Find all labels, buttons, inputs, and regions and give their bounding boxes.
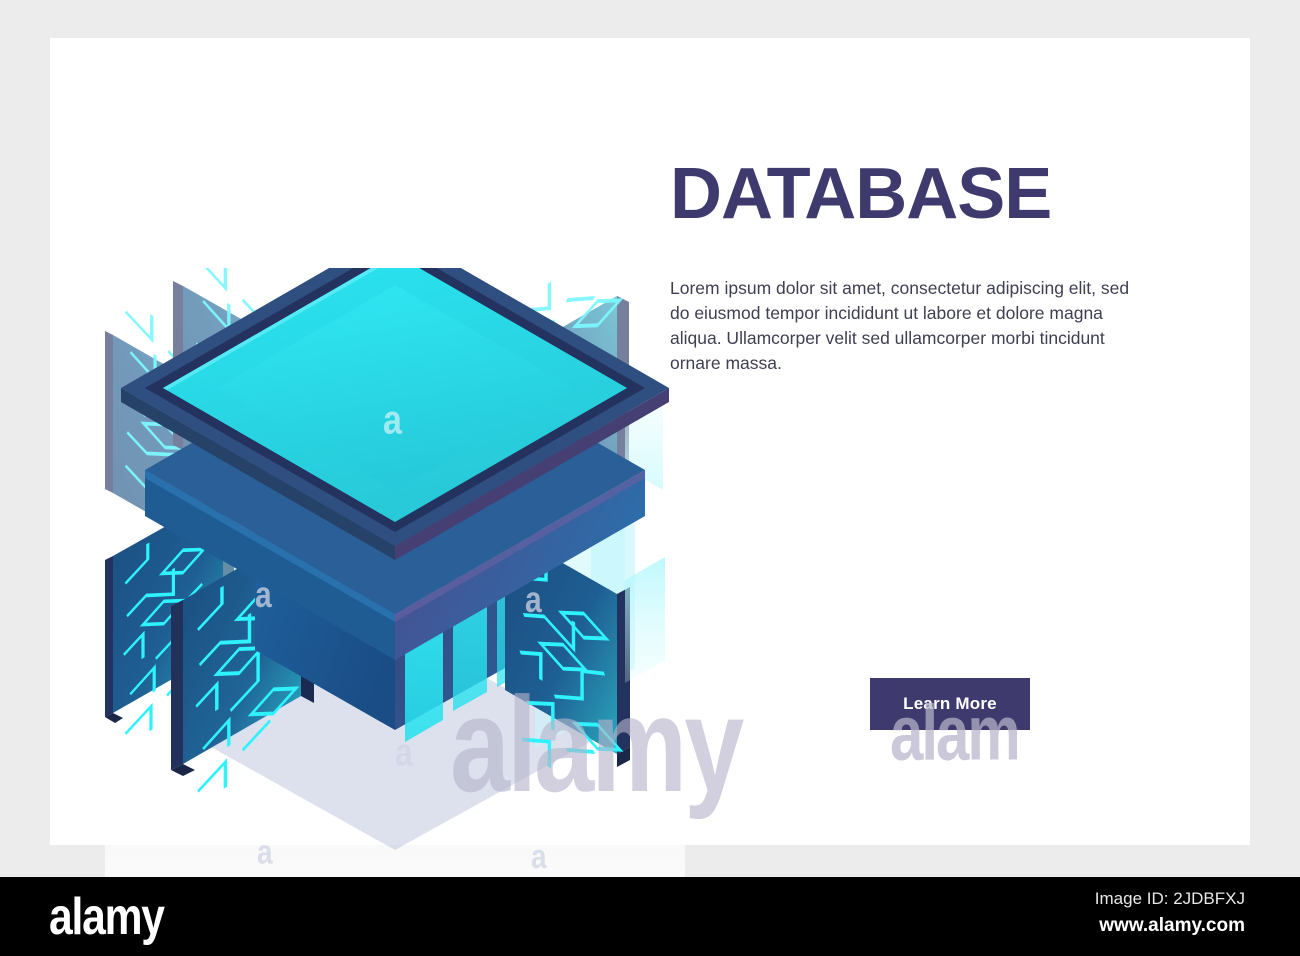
learn-more-button[interactable]: Learn More xyxy=(870,678,1030,730)
hero-copy: DATABASE Lorem ipsum dolor sit amet, con… xyxy=(670,158,1190,375)
svg-text:a: a xyxy=(257,833,273,871)
screenshot-stage: a a a a a a DATABASE Lorem ipsum dolor s… xyxy=(0,0,1300,956)
artboard: a a a a a a DATABASE Lorem ipsum dolor s… xyxy=(50,38,1250,845)
svg-text:a: a xyxy=(383,397,403,443)
alamy-footer-bar: alamy Image ID: 2JDBFXJ www.alamy.com xyxy=(0,877,1300,956)
svg-text:a: a xyxy=(395,731,414,775)
isometric-database-illustration: a a a a a a xyxy=(105,268,685,918)
hero-paragraph: Lorem ipsum dolor sit amet, consectetur … xyxy=(670,276,1148,375)
alamy-logo: alamy xyxy=(49,887,164,947)
page-title: DATABASE xyxy=(670,158,1190,230)
alamy-url: www.alamy.com xyxy=(1099,915,1245,937)
svg-text:a: a xyxy=(531,838,547,876)
svg-text:a: a xyxy=(255,575,272,615)
image-id-label: Image ID: 2JDBFXJ xyxy=(1095,889,1245,909)
svg-text:a: a xyxy=(525,580,542,620)
